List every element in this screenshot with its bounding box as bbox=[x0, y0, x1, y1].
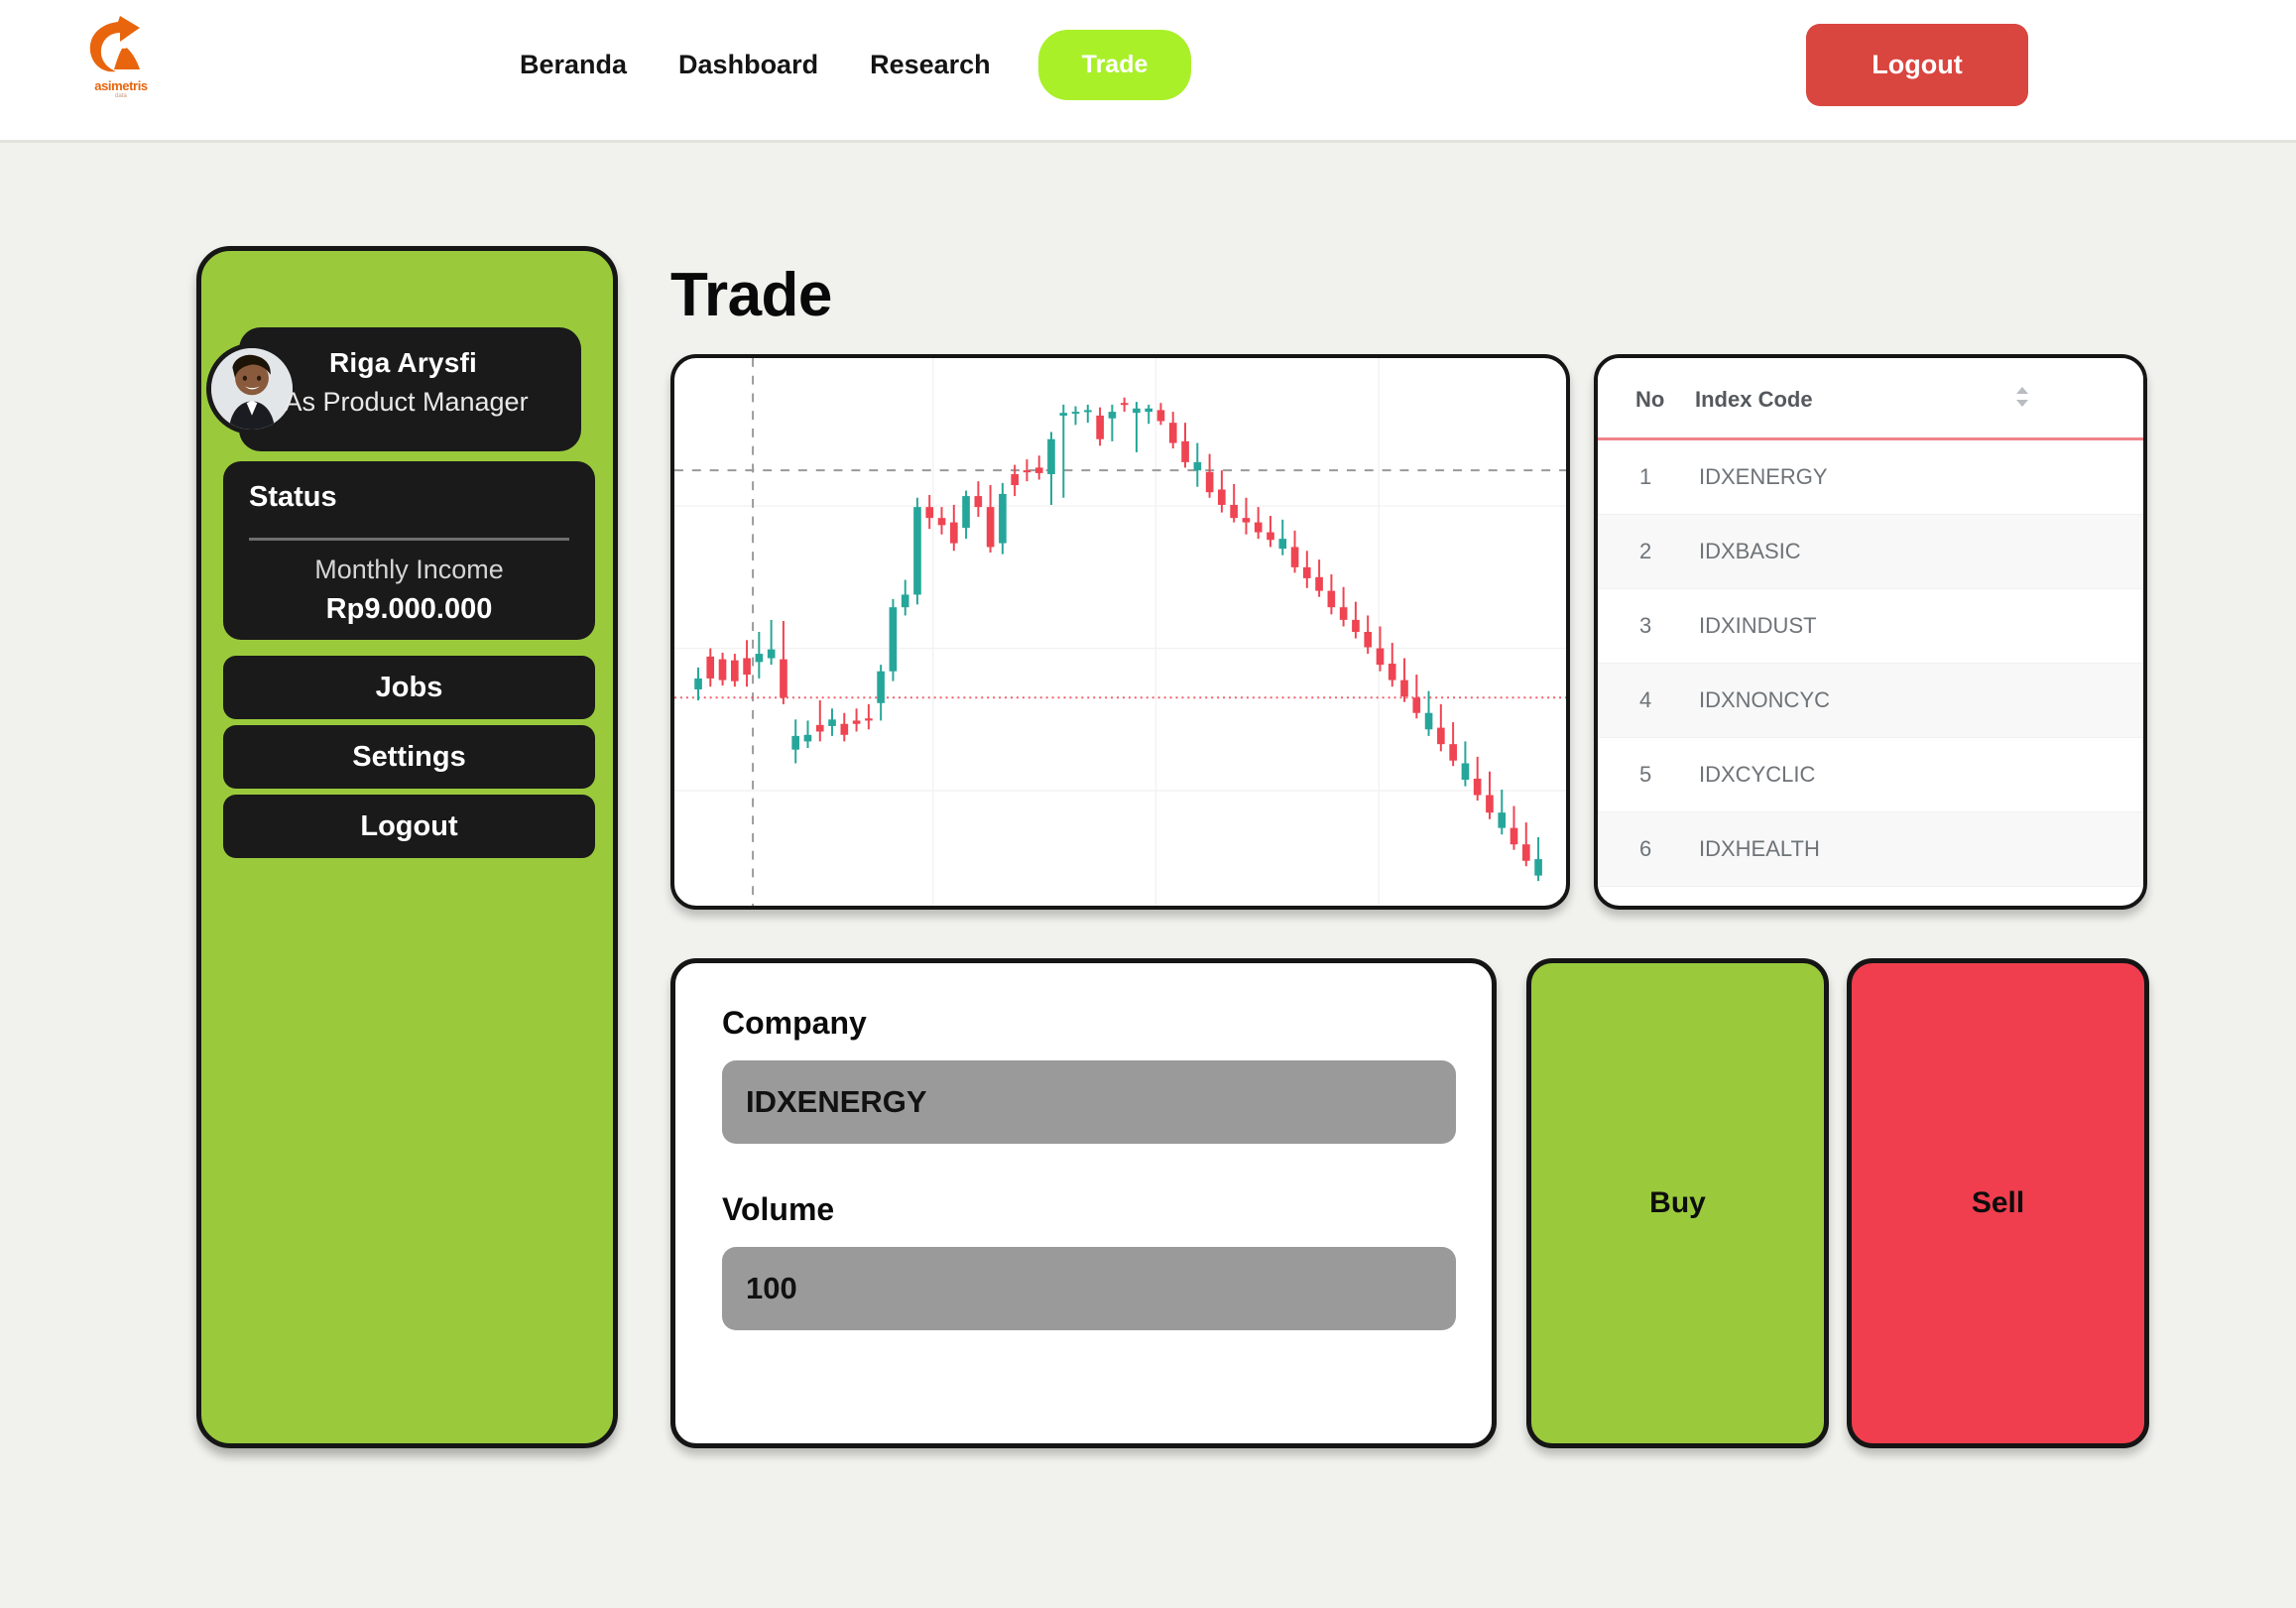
sidebar-item-settings[interactable]: Settings bbox=[223, 725, 595, 789]
asimetris-arrow-logo bbox=[84, 16, 158, 77]
header-logout-button[interactable]: Logout bbox=[1806, 24, 2028, 106]
sidebar-item-logout[interactable]: Logout bbox=[223, 795, 595, 858]
row-no: 6 bbox=[1598, 812, 1695, 887]
nav-item-trade[interactable]: Trade bbox=[1038, 30, 1192, 100]
monthly-income-value: Rp9.000.000 bbox=[223, 593, 595, 626]
table-row[interactable]: 4IDXNONCYC bbox=[1598, 664, 2143, 738]
column-header-sort[interactable] bbox=[2014, 358, 2143, 439]
table-body: 1IDXENERGY2IDXBASIC3IDXINDUST4IDXNONCYC5… bbox=[1598, 439, 2143, 887]
row-no: 5 bbox=[1598, 738, 1695, 812]
company-label: Company bbox=[722, 1005, 867, 1042]
row-index-code: IDXBASIC bbox=[1695, 515, 2014, 589]
status-title: Status bbox=[249, 481, 337, 514]
monthly-income-label: Monthly Income bbox=[223, 555, 595, 585]
brand-logo[interactable]: asimetris data bbox=[73, 16, 169, 105]
nav-item-beranda[interactable]: Beranda bbox=[494, 52, 653, 78]
row-index-code: IDXNONCYC bbox=[1695, 664, 2014, 738]
profile-sidebar: Riga Arysfi As Product Manager Status Mo… bbox=[196, 246, 618, 1448]
table-header: No Index Code bbox=[1598, 358, 2143, 439]
table-row[interactable]: 5IDXCYCLIC bbox=[1598, 738, 2143, 812]
row-spacer bbox=[2014, 812, 2143, 887]
logo-subtext: data bbox=[115, 93, 127, 99]
sidebar-item-jobs[interactable]: Jobs bbox=[223, 656, 595, 719]
nav-item-dashboard[interactable]: Dashboard bbox=[653, 52, 844, 78]
main-navigation: Beranda Dashboard Research Trade bbox=[494, 30, 1191, 100]
page-title: Trade bbox=[670, 260, 832, 330]
row-index-code: IDXHEALTH bbox=[1695, 812, 2014, 887]
logo-wordmark: asimetris bbox=[94, 79, 148, 92]
table-row[interactable]: 6IDXHEALTH bbox=[1598, 812, 2143, 887]
volume-label: Volume bbox=[722, 1191, 834, 1228]
candlestick-chart bbox=[674, 358, 1566, 906]
top-header: asimetris data Beranda Dashboard Researc… bbox=[0, 0, 2296, 140]
order-form-card: Company Volume bbox=[670, 958, 1497, 1448]
row-no: 1 bbox=[1598, 439, 1695, 515]
profile-role: As Product Manager bbox=[239, 387, 573, 418]
status-divider bbox=[249, 538, 569, 541]
row-spacer bbox=[2014, 515, 2143, 589]
nav-item-research[interactable]: Research bbox=[844, 52, 1017, 78]
company-input[interactable] bbox=[722, 1060, 1456, 1144]
row-spacer bbox=[2014, 589, 2143, 664]
table-row[interactable]: 2IDXBASIC bbox=[1598, 515, 2143, 589]
row-no: 3 bbox=[1598, 589, 1695, 664]
row-spacer bbox=[2014, 738, 2143, 812]
profile-card: Riga Arysfi As Product Manager bbox=[239, 327, 581, 451]
row-no: 2 bbox=[1598, 515, 1695, 589]
table-row[interactable]: 3IDXINDUST bbox=[1598, 589, 2143, 664]
index-code-table-card: No Index Code 1IDXENERGY2IDXBASIC3IDXIND… bbox=[1594, 354, 2147, 910]
row-spacer bbox=[2014, 439, 2143, 515]
sort-updown-icon[interactable] bbox=[2014, 386, 2030, 414]
row-spacer bbox=[2014, 664, 2143, 738]
row-index-code: IDXINDUST bbox=[1695, 589, 2014, 664]
row-index-code: IDXENERGY bbox=[1695, 439, 2014, 515]
buy-button[interactable]: Buy bbox=[1526, 958, 1829, 1448]
index-code-table: No Index Code 1IDXENERGY2IDXBASIC3IDXIND… bbox=[1598, 358, 2143, 887]
volume-input[interactable] bbox=[722, 1247, 1456, 1330]
profile-name: Riga Arysfi bbox=[239, 347, 567, 379]
candlestick-chart-card[interactable] bbox=[670, 354, 1570, 910]
table-header-row: No Index Code bbox=[1598, 358, 2143, 439]
sell-button[interactable]: Sell bbox=[1847, 958, 2149, 1448]
status-card: Status Monthly Income Rp9.000.000 bbox=[223, 461, 595, 640]
header-divider bbox=[0, 140, 2296, 143]
row-no: 4 bbox=[1598, 664, 1695, 738]
row-index-code: IDXCYCLIC bbox=[1695, 738, 2014, 812]
column-header-index-code[interactable]: Index Code bbox=[1695, 358, 2014, 439]
column-header-no[interactable]: No bbox=[1598, 358, 1695, 439]
trade-page: asimetris data Beranda Dashboard Researc… bbox=[0, 0, 2296, 1608]
table-row[interactable]: 1IDXENERGY bbox=[1598, 439, 2143, 515]
